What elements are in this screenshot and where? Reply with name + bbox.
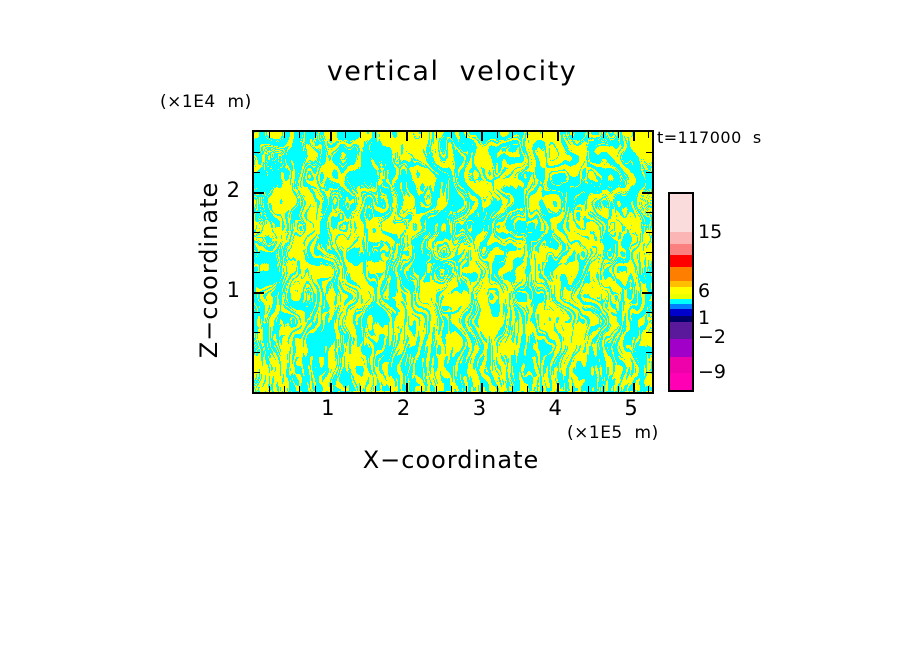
tick-mark: [618, 132, 619, 138]
tick-mark: [269, 132, 270, 138]
tick-mark: [527, 386, 528, 392]
tick-mark: [646, 172, 652, 173]
tick-mark: [254, 272, 260, 273]
tick-mark: [421, 132, 422, 138]
tick-mark: [642, 192, 652, 194]
tick-mark: [254, 292, 264, 294]
tick-mark: [269, 386, 270, 392]
tick-mark: [512, 386, 513, 392]
x-axis-title: X−coordinate: [252, 446, 650, 474]
tick-mark: [542, 132, 543, 138]
x-tick-label: 2: [397, 396, 410, 420]
tick-mark: [557, 132, 559, 141]
plot-area: [252, 130, 654, 394]
tick-mark: [572, 386, 573, 392]
tick-mark: [375, 386, 376, 392]
tick-mark: [299, 132, 300, 138]
tick-mark: [330, 383, 332, 392]
colorbar-band: [670, 322, 692, 339]
colorbar: [668, 192, 694, 392]
tick-mark: [436, 386, 437, 392]
colorbar-tick-label: −2: [698, 326, 726, 348]
tick-mark: [299, 386, 300, 392]
tick-mark: [330, 132, 332, 141]
tick-mark: [481, 132, 483, 141]
figure-canvas: vertical velocity (×1E4 m) t=117000 s (×…: [0, 0, 904, 654]
tick-mark: [646, 352, 652, 353]
tick-mark: [646, 272, 652, 273]
tick-mark: [557, 383, 559, 392]
tick-mark: [603, 132, 604, 138]
tick-mark: [572, 132, 573, 138]
x-tick-label: 5: [624, 396, 637, 420]
colorbar-band: [670, 255, 692, 267]
tick-mark: [345, 132, 346, 138]
tick-mark: [512, 132, 513, 138]
tick-mark: [646, 312, 652, 313]
tick-mark: [254, 212, 260, 213]
tick-mark: [436, 132, 437, 138]
x-tick-label: 1: [321, 396, 334, 420]
tick-mark: [648, 386, 649, 392]
tick-mark: [633, 132, 635, 141]
colorbar-band: [670, 244, 692, 256]
tick-mark: [360, 386, 361, 392]
tick-mark: [646, 212, 652, 213]
tick-mark: [542, 386, 543, 392]
colorbar-band: [670, 339, 692, 357]
tick-mark: [254, 332, 260, 333]
y-axis-title: Z−coordinate: [195, 60, 223, 480]
velocity-field-heatmap: [254, 132, 652, 392]
x-tick-label: 4: [549, 396, 562, 420]
tick-mark: [646, 252, 652, 253]
tick-mark: [421, 386, 422, 392]
page-title: vertical velocity: [0, 56, 904, 87]
tick-mark: [603, 386, 604, 392]
tick-mark: [254, 192, 264, 194]
tick-mark: [345, 386, 346, 392]
x-tick-label: 3: [473, 396, 486, 420]
tick-mark: [646, 372, 652, 373]
tick-mark: [466, 386, 467, 392]
tick-mark: [618, 386, 619, 392]
tick-mark: [588, 386, 589, 392]
tick-mark: [360, 132, 361, 138]
time-annotation: t=117000 s: [657, 128, 762, 147]
colorbar-tick-label: 6: [698, 280, 710, 302]
tick-mark: [527, 132, 528, 138]
tick-mark: [375, 132, 376, 138]
tick-mark: [642, 292, 652, 294]
tick-mark: [497, 386, 498, 392]
tick-mark: [497, 132, 498, 138]
tick-mark: [406, 132, 408, 141]
tick-mark: [254, 172, 260, 173]
tick-mark: [481, 383, 483, 392]
x-axis-unit-label: (×1E5 m): [567, 423, 659, 443]
tick-mark: [451, 132, 452, 138]
tick-mark: [588, 132, 589, 138]
tick-mark: [451, 386, 452, 392]
colorbar-band: [670, 194, 692, 232]
tick-mark: [646, 152, 652, 153]
colorbar-band: [670, 373, 692, 390]
tick-mark: [648, 132, 649, 138]
tick-mark: [254, 232, 260, 233]
tick-mark: [390, 386, 391, 392]
tick-mark: [254, 252, 260, 253]
y-tick-label: 1: [212, 278, 240, 302]
tick-mark: [406, 383, 408, 392]
tick-mark: [466, 132, 467, 138]
tick-mark: [284, 132, 285, 138]
tick-mark: [390, 132, 391, 138]
tick-mark: [284, 386, 285, 392]
colorbar-tick-label: −9: [698, 361, 726, 383]
tick-mark: [646, 332, 652, 333]
tick-mark: [254, 312, 260, 313]
tick-mark: [633, 383, 635, 392]
tick-mark: [315, 386, 316, 392]
tick-mark: [315, 132, 316, 138]
tick-mark: [254, 372, 260, 373]
tick-mark: [254, 152, 260, 153]
y-tick-label: 2: [212, 178, 240, 202]
colorbar-band: [670, 232, 692, 244]
tick-mark: [254, 352, 260, 353]
tick-mark: [646, 232, 652, 233]
colorbar-tick-label: 15: [698, 221, 722, 243]
colorbar-band: [670, 267, 692, 281]
colorbar-band: [670, 357, 692, 374]
